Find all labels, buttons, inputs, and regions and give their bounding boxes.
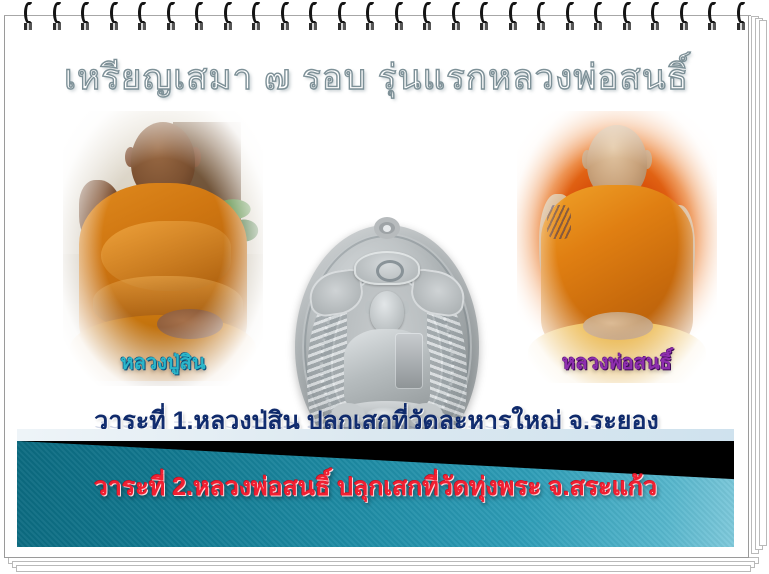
photo-caption-left: หลวงปู่สิน [63, 346, 263, 378]
notebook-page-stage: เหรียญเสมา ๗ รอบ รุ่นแรกหลวงพ่อสนธิ์ [0, 0, 769, 574]
coin-figure-head [370, 291, 404, 333]
notebook-page: เหรียญเสมา ๗ รอบ รุ่นแรกหลวงพ่อสนธิ์ [4, 15, 749, 558]
headline: เหรียญเสมา ๗ รอบ รุ่นแรกหลวงพ่อสนธิ์ [5, 52, 748, 106]
monk-photo-left: หลวงปู่สิน [63, 111, 263, 386]
figure-tattoo [547, 205, 571, 239]
figure-hands [157, 309, 223, 339]
page-stack-edge [759, 20, 767, 546]
photo-caption-right: หลวงพ่อสนธิ์ [517, 346, 717, 378]
photo-vignette-left [63, 111, 263, 386]
coin-crest [354, 251, 420, 285]
photo-vignette-right [517, 111, 717, 386]
figure-hands [583, 312, 653, 340]
band-line-2: วาระที่ 2.หลวงพ่อสนธิ์ ปลุกเสกที่วัดทุ่ง… [17, 441, 734, 547]
band-line-2-text: วาระที่ 2.หลวงพ่อสนธิ์ ปลุกเสกที่วัดทุ่ง… [17, 467, 734, 507]
photo-row: หลวงปู่สิน [5, 111, 748, 396]
page-stack-edge [16, 565, 751, 572]
caption-bands: วาระที่ 1.หลวงปู่สิน ปลุกเสกที่วัดละหารใ… [5, 387, 748, 557]
band-light-strip [17, 429, 734, 441]
headline-text: เหรียญเสมา ๗ รอบ รุ่นแรกหลวงพ่อสนธิ์ [64, 52, 689, 104]
coin-figure-sash [395, 333, 423, 389]
monk-photo-right: หลวงพ่อสนธิ์ [517, 111, 717, 386]
coin-suspension-loop [374, 217, 400, 239]
